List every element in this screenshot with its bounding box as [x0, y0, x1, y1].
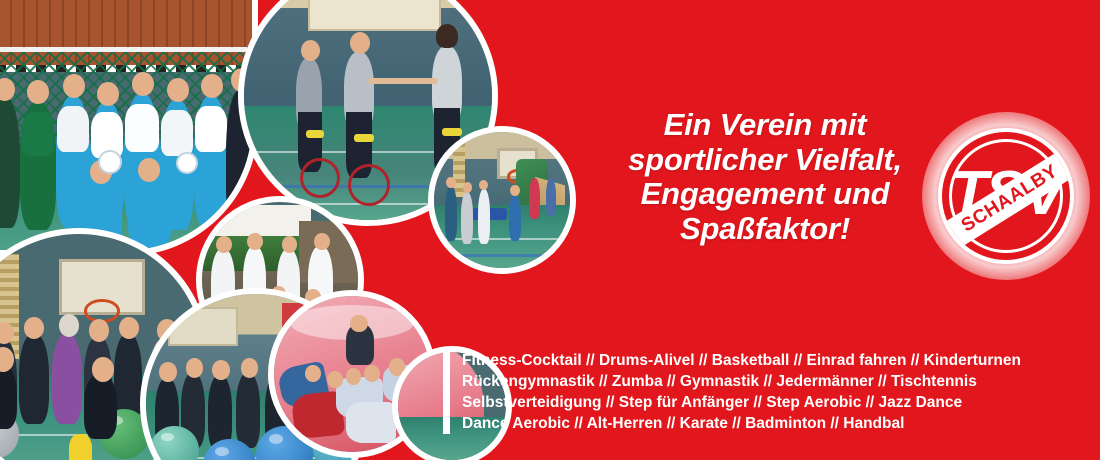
- sports-line-1: Fitness-Cocktail // Drums-Alivel // Bask…: [462, 350, 1021, 371]
- club-banner: Ein Verein mit sportlicher Vielfalt, Eng…: [0, 0, 1100, 460]
- headline: Ein Verein mit sportlicher Vielfalt, Eng…: [600, 108, 930, 247]
- headline-line-1: Ein Verein mit: [600, 108, 930, 143]
- sports-list: Fitness-Cocktail // Drums-Alivel // Bask…: [443, 350, 1021, 434]
- headline-line-4: Spaßfaktor!: [600, 212, 930, 247]
- logo-disc: TSV SCHAALBY: [938, 128, 1074, 264]
- headline-line-2: sportlicher Vielfalt,: [600, 143, 930, 178]
- club-logo: TSV SCHAALBY: [922, 112, 1090, 280]
- sports-line-2: Rückengymnastik // Zumba // Gymnastik //…: [462, 371, 1021, 392]
- sports-line-4: Dance Aerobic // Alt-Herren // Karate //…: [462, 413, 1021, 434]
- sports-lines: Fitness-Cocktail // Drums-Alivel // Bask…: [462, 350, 1021, 434]
- sports-accent-bar: [443, 350, 450, 434]
- sports-line-3: Selbstverteidigung // Step für Anfänger …: [462, 392, 1021, 413]
- childrens-gym-photo: [428, 126, 576, 274]
- headline-line-3: Engagement und: [600, 177, 930, 212]
